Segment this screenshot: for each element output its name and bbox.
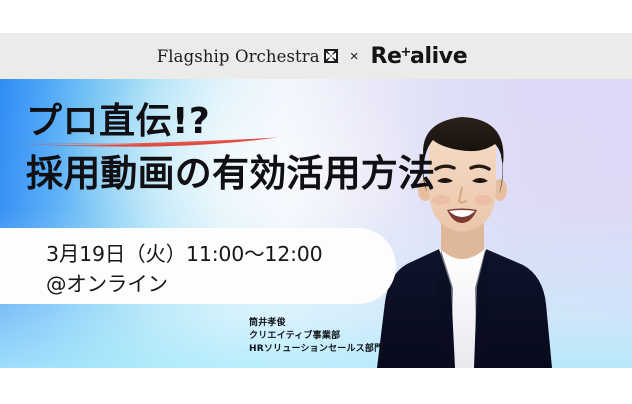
logo-lockup: Flagship Orchestra × Re+alive <box>157 44 468 69</box>
realive-plus-icon: + <box>401 45 412 60</box>
main-banner: プロ直伝!? 採用動画の有効活用方法 3月19日（火）11:00〜12:00 @… <box>0 79 632 368</box>
speaker-name: 筒井孝俊 <box>249 317 383 330</box>
flagship-orchestra-logo: Flagship Orchestra <box>157 47 338 66</box>
realive-prefix: Re <box>370 44 401 69</box>
headline-line1-wrap: プロ直伝!? <box>26 103 210 141</box>
flagship-orchestra-wordmark: Flagship Orchestra <box>157 47 320 66</box>
headline-group: プロ直伝!? 採用動画の有効活用方法 <box>26 103 435 194</box>
event-location: @オンライン <box>46 269 396 299</box>
webinar-banner-page: Flagship Orchestra × Re+alive <box>0 0 632 404</box>
realive-suffix: alive <box>410 44 467 69</box>
flagship-square-icon <box>324 49 338 63</box>
speaker-credit: 筒井孝俊 クリエイティブ事業部 HRソリューションセールス部門 <box>249 317 383 355</box>
realive-logo: Re+alive <box>370 44 467 69</box>
speaker-department: HRソリューションセールス部門 <box>249 343 383 356</box>
speaker-division: クリエイティブ事業部 <box>249 330 383 343</box>
collaboration-x-separator-icon: × <box>347 48 362 65</box>
logo-header-band: Flagship Orchestra × Re+alive <box>0 33 632 79</box>
top-white-margin <box>0 0 632 33</box>
schedule-info-box: 3月19日（火）11:00〜12:00 @オンライン <box>0 228 396 304</box>
bottom-white-margin <box>0 368 632 404</box>
schedule-datetime: 3月19日（火）11:00〜12:00 <box>46 239 396 269</box>
headline-line2: 採用動画の有効活用方法 <box>26 154 435 195</box>
headline-line1: プロ直伝!? <box>26 103 210 141</box>
